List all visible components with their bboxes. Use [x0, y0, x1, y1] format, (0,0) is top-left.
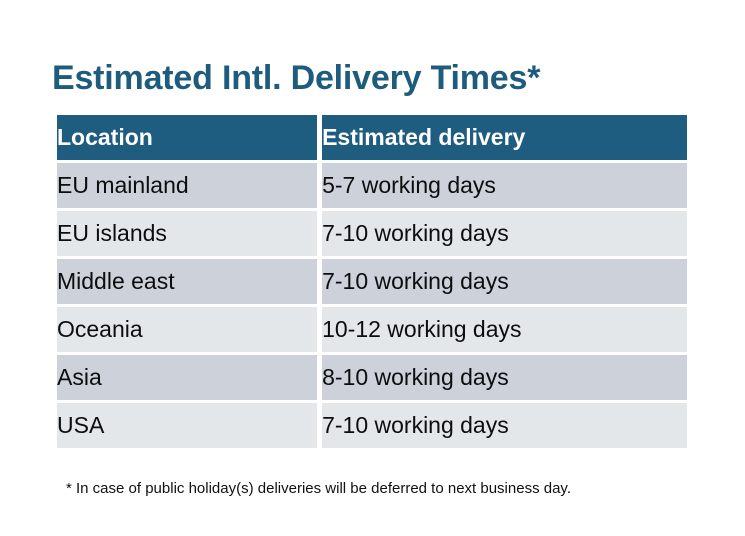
cell-location: EU mainland [57, 163, 317, 208]
cell-location: Middle east [57, 259, 317, 304]
column-header-location: Location [57, 115, 317, 160]
table-header: Location Estimated delivery [57, 115, 687, 160]
cell-estimate: 7-10 working days [322, 211, 687, 256]
cell-location: Oceania [57, 307, 317, 352]
cell-estimate: 10-12 working days [322, 307, 687, 352]
column-header-estimated-delivery: Estimated delivery [322, 115, 687, 160]
table-row: USA 7-10 working days [57, 403, 687, 448]
cell-location: USA [57, 403, 317, 448]
table-row: EU islands 7-10 working days [57, 211, 687, 256]
footnote-text: * In case of public holiday(s) deliverie… [66, 480, 571, 497]
estimated-delivery-table: Location Estimated delivery EU mainland … [52, 112, 692, 451]
cell-estimate: 7-10 working days [322, 403, 687, 448]
cell-estimate: 8-10 working days [322, 355, 687, 400]
table-row: Middle east 7-10 working days [57, 259, 687, 304]
table-row: EU mainland 5-7 working days [57, 163, 687, 208]
cell-estimate: 5-7 working days [322, 163, 687, 208]
table-row: Oceania 10-12 working days [57, 307, 687, 352]
page-title: Estimated Intl. Delivery Times* [52, 59, 540, 98]
table-body: EU mainland 5-7 working days EU islands … [57, 163, 687, 448]
table-row: Asia 8-10 working days [57, 355, 687, 400]
delivery-times-page: Estimated Intl. Delivery Times* Location… [0, 0, 745, 536]
cell-estimate: 7-10 working days [322, 259, 687, 304]
table-header-row: Location Estimated delivery [57, 115, 687, 160]
cell-location: Asia [57, 355, 317, 400]
cell-location: EU islands [57, 211, 317, 256]
